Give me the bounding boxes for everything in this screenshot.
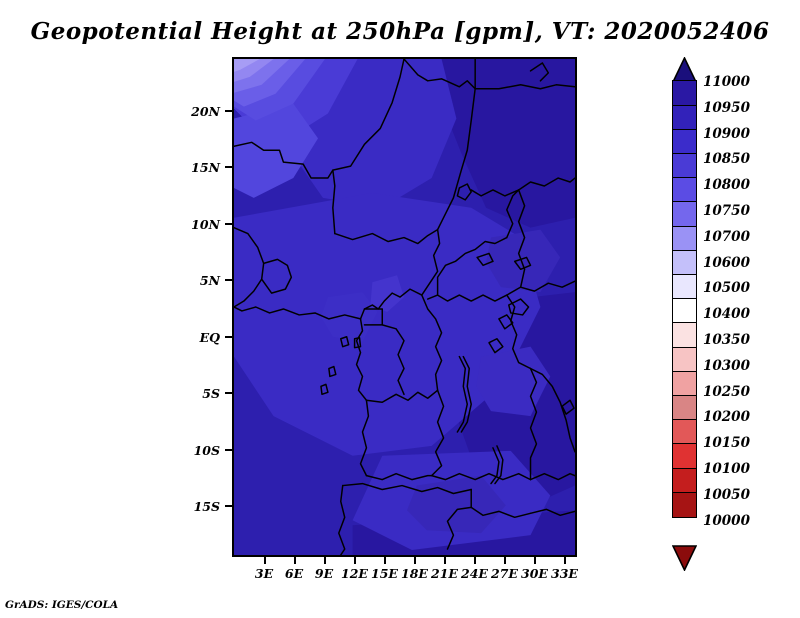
x-tick-3e — [264, 557, 266, 564]
colorbar-segment-10950 — [672, 105, 697, 131]
x-tick-12e — [354, 557, 356, 564]
colorbar-tick-label-10100: 10100 — [703, 463, 750, 477]
x-tick-24e — [474, 557, 476, 564]
grads-attribution: GrADS: IGES/COLA — [5, 599, 118, 611]
y-tick-15s — [225, 505, 232, 507]
y-tick-10n — [225, 223, 232, 225]
page-title: Geopotential Height at 250hPa [gpm], VT:… — [0, 18, 800, 45]
colorbar-tick-label-10250: 10250 — [703, 386, 750, 400]
colorbar-tick-label-10900: 10900 — [703, 128, 750, 142]
colorbar-segment-11000 — [672, 80, 697, 106]
colorbar-tick-label-10950: 10950 — [703, 102, 750, 116]
coastline-and-borders — [234, 59, 575, 555]
colorbar-segment-10900 — [672, 129, 697, 155]
map-plot-area[interactable] — [232, 57, 577, 557]
y-tick-10s — [225, 449, 232, 451]
y-tick-5s — [225, 392, 232, 394]
x-tick-33e — [564, 557, 566, 564]
colorbar-tick-label-10350: 10350 — [703, 334, 750, 348]
colorbar-tick-label-10050: 10050 — [703, 489, 750, 503]
y-tick-20n — [225, 110, 232, 112]
colorbar[interactable]: 1100010950109001085010800107501070010600… — [663, 57, 773, 562]
x-axis-label-33e: 33E — [543, 566, 586, 581]
y-axis-label-10n: 10N — [178, 217, 220, 232]
colorbar-tick-label-10200: 10200 — [703, 411, 750, 425]
x-tick-30e — [534, 557, 536, 564]
y-tick-eq — [225, 336, 232, 338]
y-axis-label-5s: 5S — [178, 386, 220, 401]
colorbar-segment-10600 — [672, 250, 697, 276]
x-tick-15e — [384, 557, 386, 564]
colorbar-tick-label-10500: 10500 — [703, 282, 750, 296]
x-tick-21e — [444, 557, 446, 564]
colorbar-segments — [672, 82, 697, 518]
colorbar-segment-10150 — [672, 419, 697, 445]
colorbar-segment-10400 — [672, 298, 697, 324]
y-axis-label-5n: 5N — [178, 273, 220, 288]
colorbar-tick-label-10150: 10150 — [703, 437, 750, 451]
x-tick-18e — [414, 557, 416, 564]
y-axis-label-20n: 20N — [178, 104, 220, 119]
colorbar-tick-label-10850: 10850 — [703, 153, 750, 167]
colorbar-segment-10250 — [672, 371, 697, 397]
y-axis-label-15s: 15S — [178, 499, 220, 514]
colorbar-segment-10800 — [672, 177, 697, 203]
colorbar-tick-label-10000: 10000 — [703, 515, 750, 529]
colorbar-tick-label-11000: 11000 — [703, 76, 750, 90]
colorbar-segment-10300 — [672, 347, 697, 373]
colorbar-segment-10700 — [672, 226, 697, 252]
y-axis-label-eq: EQ — [178, 330, 220, 345]
colorbar-tick-label-10750: 10750 — [703, 205, 750, 219]
grads-plot-window: Geopotential Height at 250hPa [gpm], VT:… — [0, 0, 800, 618]
colorbar-tick-label-10600: 10600 — [703, 257, 750, 271]
x-tick-6e — [294, 557, 296, 564]
colorbar-bottom-arrow-icon — [672, 545, 697, 571]
colorbar-segment-10200 — [672, 395, 697, 421]
colorbar-tick-label-10400: 10400 — [703, 308, 750, 322]
colorbar-segment-10850 — [672, 153, 697, 179]
colorbar-segment-10750 — [672, 201, 697, 227]
colorbar-top-arrow-icon — [672, 57, 697, 83]
colorbar-tick-label-10700: 10700 — [703, 231, 750, 245]
colorbar-tick-label-10800: 10800 — [703, 179, 750, 193]
y-axis-label-10s: 10S — [178, 443, 220, 458]
colorbar-tick-label-10300: 10300 — [703, 360, 750, 374]
colorbar-segment-10500 — [672, 274, 697, 300]
y-axis-label-15n: 15N — [178, 160, 220, 175]
y-tick-15n — [225, 166, 232, 168]
x-tick-9e — [324, 557, 326, 564]
colorbar-segment-10350 — [672, 322, 697, 348]
x-tick-27e — [504, 557, 506, 564]
y-tick-5n — [225, 279, 232, 281]
colorbar-segment-10050 — [672, 468, 697, 494]
colorbar-segment-10100 — [672, 443, 697, 469]
colorbar-segment-10000 — [672, 492, 697, 518]
